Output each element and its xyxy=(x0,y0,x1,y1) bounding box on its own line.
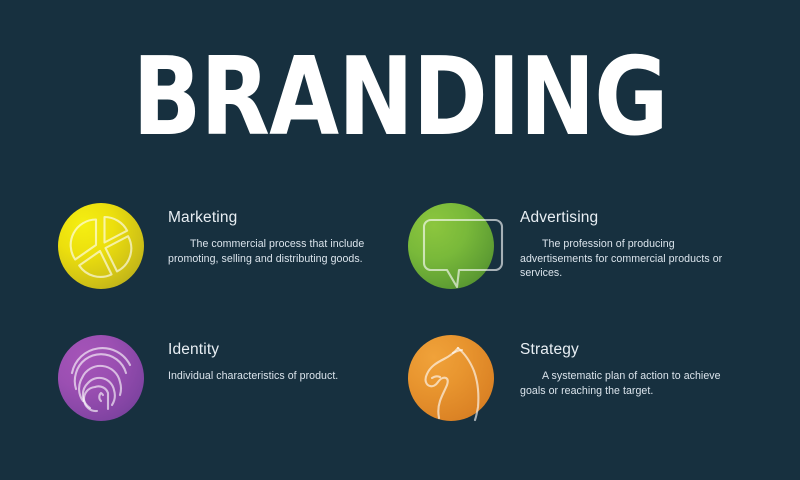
marketing-badge xyxy=(58,203,144,289)
marketing-title: Marketing xyxy=(168,208,388,228)
infographic-slide: BRANDING Marketing The commercial proces… xyxy=(0,0,800,480)
advertising-badge xyxy=(408,203,494,289)
identity-description: Individual characteristics of product. xyxy=(168,369,338,384)
page-title: BRANDING xyxy=(28,48,772,148)
speech-bubble-icon xyxy=(402,197,500,295)
card-marketing[interactable]: Marketing The commercial process that in… xyxy=(58,203,388,289)
marketing-description: The commercial process that include prom… xyxy=(168,237,388,266)
advertising-title: Advertising xyxy=(520,208,748,228)
strategy-badge xyxy=(408,335,494,421)
fingerprint-icon xyxy=(52,329,150,427)
card-strategy[interactable]: Strategy A systematic plan of action to … xyxy=(408,335,748,421)
strategy-text: Strategy A systematic plan of action to … xyxy=(494,335,748,398)
card-advertising[interactable]: Advertising The profession of producing … xyxy=(408,203,748,289)
advertising-text: Advertising The profession of producing … xyxy=(494,203,748,281)
identity-title: Identity xyxy=(168,340,338,360)
identity-badge xyxy=(58,335,144,421)
card-identity[interactable]: Identity Individual characteristics of p… xyxy=(58,335,388,421)
advertising-description: The profession of producing advertisemen… xyxy=(520,237,748,281)
identity-text: Identity Individual characteristics of p… xyxy=(144,335,338,384)
marketing-text: Marketing The commercial process that in… xyxy=(144,203,388,266)
pie-chart-icon xyxy=(52,197,150,295)
strategy-description: A systematic plan of action to achieve g… xyxy=(520,369,748,398)
knight-chess-piece-icon xyxy=(402,329,500,427)
strategy-title: Strategy xyxy=(520,340,748,360)
